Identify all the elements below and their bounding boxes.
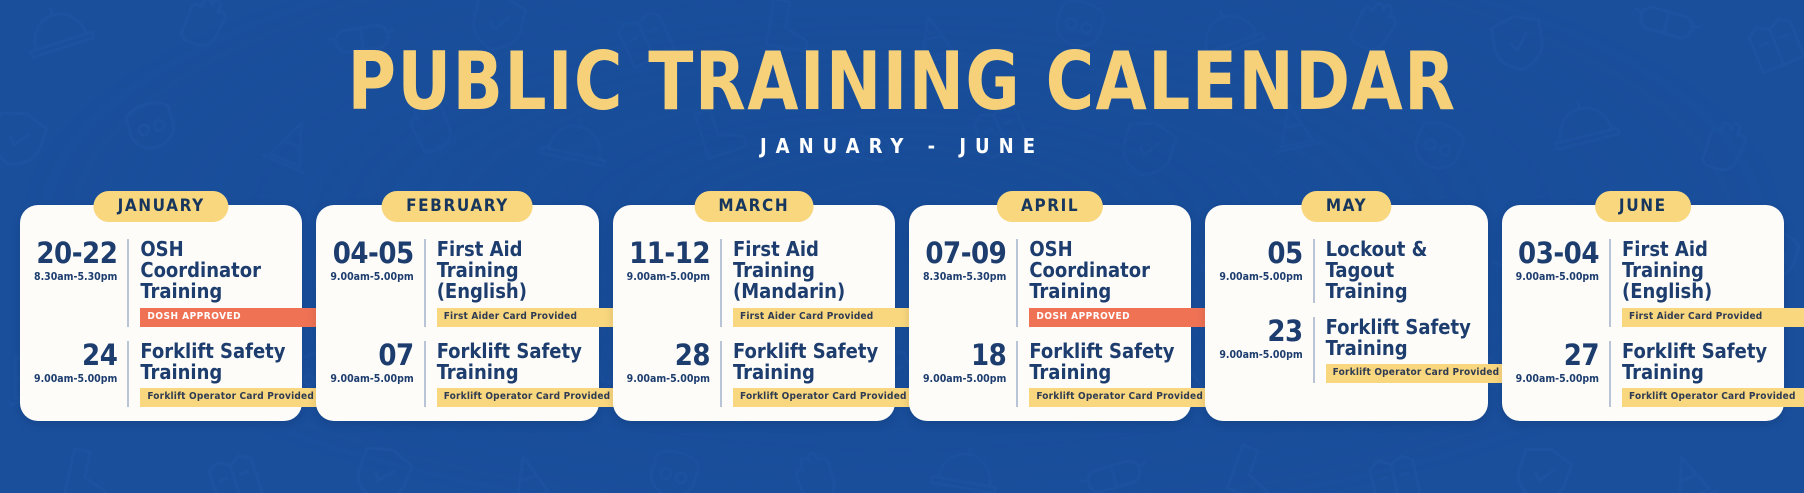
event-date-column: 04-05 9.00am-5.00pm bbox=[330, 239, 425, 327]
event-info-column: Forklift Safety Training Forklift Operat… bbox=[1611, 341, 1770, 407]
event-title: Lockout & Tagout Training bbox=[1326, 239, 1474, 303]
event-time: 9.00am-5.00pm bbox=[1219, 350, 1302, 362]
event-title: OSH Coordinator Training bbox=[140, 239, 288, 303]
event-title: First Aid Training (English) bbox=[437, 239, 585, 303]
month-card-april[interactable]: APRIL 07-09 8.30am-5.30pm OSH Coordinato… bbox=[909, 205, 1191, 421]
event-row[interactable]: 03-04 9.00am-5.00pm First Aid Training (… bbox=[1516, 239, 1770, 327]
month-pill-april: APRIL bbox=[997, 191, 1103, 222]
event-title: Forklift Safety Training bbox=[140, 341, 288, 383]
event-info-column: Forklift Safety Training Forklift Operat… bbox=[426, 341, 585, 407]
event-info-column: Lockout & Tagout Training bbox=[1315, 239, 1474, 303]
month-pill-february: FEBRUARY bbox=[382, 191, 533, 222]
event-title: First Aid Training (Mandarin) bbox=[733, 239, 881, 303]
event-row[interactable]: 11-12 9.00am-5.00pm First Aid Training (… bbox=[627, 239, 881, 327]
page-title: PUBLIC TRAINING CALENDAR bbox=[72, 44, 1732, 120]
event-dates: 07-09 bbox=[923, 239, 1006, 268]
page-subtitle: JANUARY - JUNE bbox=[0, 134, 1804, 158]
event-dates: 24 bbox=[34, 341, 117, 370]
event-badge-first-aider-card: First Aider Card Provided bbox=[437, 308, 637, 327]
event-dates: 28 bbox=[627, 341, 710, 370]
event-info-column: Forklift Safety Training Forklift Operat… bbox=[1018, 341, 1177, 407]
event-time: 8.30am-5.30pm bbox=[34, 272, 117, 284]
event-info-column: OSH Coordinator Training DOSH APPROVED bbox=[129, 239, 288, 327]
event-row[interactable]: 23 9.00am-5.00pm Forklift Safety Trainin… bbox=[1219, 317, 1473, 383]
page-header: PUBLIC TRAINING CALENDAR JANUARY - JUNE bbox=[0, 0, 1804, 158]
event-row[interactable]: 27 9.00am-5.00pm Forklift Safety Trainin… bbox=[1516, 341, 1770, 407]
event-row[interactable]: 18 9.00am-5.00pm Forklift Safety Trainin… bbox=[923, 341, 1177, 407]
event-date-column: 18 9.00am-5.00pm bbox=[923, 341, 1018, 407]
event-info-column: Forklift Safety Training Forklift Operat… bbox=[1315, 317, 1474, 383]
month-pill-june: JUNE bbox=[1595, 191, 1691, 222]
event-time: 9.00am-5.00pm bbox=[1516, 374, 1599, 386]
event-time: 9.00am-5.00pm bbox=[627, 374, 710, 386]
event-time: 9.00am-5.00pm bbox=[330, 272, 413, 284]
event-date-column: 24 9.00am-5.00pm bbox=[34, 341, 129, 407]
event-title: OSH Coordinator Training bbox=[1029, 239, 1177, 303]
event-row[interactable]: 20-22 8.30am-5.30pm OSH Coordinator Trai… bbox=[34, 239, 288, 327]
event-dates: 11-12 bbox=[627, 239, 710, 268]
event-date-column: 27 9.00am-5.00pm bbox=[1516, 341, 1611, 407]
month-cards-row: JANUARY 20-22 8.30am-5.30pm OSH Coordina… bbox=[0, 205, 1804, 421]
event-date-column: 28 9.00am-5.00pm bbox=[627, 341, 722, 407]
event-dates: 07 bbox=[330, 341, 413, 370]
event-dates: 20-22 bbox=[34, 239, 117, 268]
event-dates: 04-05 bbox=[330, 239, 413, 268]
event-date-column: 20-22 8.30am-5.30pm bbox=[34, 239, 129, 327]
event-row[interactable]: 04-05 9.00am-5.00pm First Aid Training (… bbox=[330, 239, 584, 327]
event-date-column: 07-09 8.30am-5.30pm bbox=[923, 239, 1018, 327]
event-time: 8.30am-5.30pm bbox=[923, 272, 1006, 284]
event-title: First Aid Training (English) bbox=[1622, 239, 1770, 303]
event-dates: 27 bbox=[1516, 341, 1599, 370]
event-time: 9.00am-5.00pm bbox=[1516, 272, 1599, 284]
month-card-march[interactable]: MARCH 11-12 9.00am-5.00pm First Aid Trai… bbox=[613, 205, 895, 421]
event-time: 9.00am-5.00pm bbox=[923, 374, 1006, 386]
event-info-column: Forklift Safety Training Forklift Operat… bbox=[129, 341, 288, 407]
event-info-column: Forklift Safety Training Forklift Operat… bbox=[722, 341, 881, 407]
event-title: Forklift Safety Training bbox=[1622, 341, 1770, 383]
month-pill-january: JANUARY bbox=[94, 191, 229, 222]
event-row[interactable]: 28 9.00am-5.00pm Forklift Safety Trainin… bbox=[627, 341, 881, 407]
event-date-column: 11-12 9.00am-5.00pm bbox=[627, 239, 722, 327]
event-time: 9.00am-5.00pm bbox=[1219, 272, 1302, 284]
month-card-may[interactable]: MAY 05 9.00am-5.00pm Lockout & Tagout Tr… bbox=[1205, 205, 1487, 421]
event-row[interactable]: 05 9.00am-5.00pm Lockout & Tagout Traini… bbox=[1219, 239, 1473, 303]
event-badge-first-aider-card: First Aider Card Provided bbox=[733, 308, 933, 327]
event-title: Forklift Safety Training bbox=[1326, 317, 1474, 359]
month-card-january[interactable]: JANUARY 20-22 8.30am-5.30pm OSH Coordina… bbox=[20, 205, 302, 421]
event-date-column: 07 9.00am-5.00pm bbox=[330, 341, 425, 407]
event-info-column: First Aid Training (Mandarin) First Aide… bbox=[722, 239, 881, 327]
event-badge-forklift-card: Forklift Operator Card Provided bbox=[1622, 388, 1804, 407]
month-card-june[interactable]: JUNE 03-04 9.00am-5.00pm First Aid Train… bbox=[1502, 205, 1784, 421]
event-row[interactable]: 24 9.00am-5.00pm Forklift Safety Trainin… bbox=[34, 341, 288, 407]
event-dates: 23 bbox=[1219, 317, 1302, 346]
event-info-column: First Aid Training (English) First Aider… bbox=[1611, 239, 1770, 327]
event-info-column: First Aid Training (English) First Aider… bbox=[426, 239, 585, 327]
event-title: Forklift Safety Training bbox=[733, 341, 881, 383]
month-pill-march: MARCH bbox=[694, 191, 813, 222]
event-time: 9.00am-5.00pm bbox=[330, 374, 413, 386]
event-dates: 05 bbox=[1219, 239, 1302, 268]
event-badge-first-aider-card: First Aider Card Provided bbox=[1622, 308, 1804, 327]
event-time: 9.00am-5.00pm bbox=[627, 272, 710, 284]
event-date-column: 03-04 9.00am-5.00pm bbox=[1516, 239, 1611, 327]
event-date-column: 05 9.00am-5.00pm bbox=[1219, 239, 1314, 303]
event-row[interactable]: 07-09 8.30am-5.30pm OSH Coordinator Trai… bbox=[923, 239, 1177, 327]
event-row[interactable]: 07 9.00am-5.00pm Forklift Safety Trainin… bbox=[330, 341, 584, 407]
event-dates: 03-04 bbox=[1516, 239, 1599, 268]
event-dates: 18 bbox=[923, 341, 1006, 370]
event-title: Forklift Safety Training bbox=[1029, 341, 1177, 383]
month-pill-may: MAY bbox=[1302, 191, 1391, 222]
month-card-february[interactable]: FEBRUARY 04-05 9.00am-5.00pm First Aid T… bbox=[316, 205, 598, 421]
event-title: Forklift Safety Training bbox=[437, 341, 585, 383]
event-info-column: OSH Coordinator Training DOSH APPROVED bbox=[1018, 239, 1177, 327]
event-date-column: 23 9.00am-5.00pm bbox=[1219, 317, 1314, 383]
event-time: 9.00am-5.00pm bbox=[34, 374, 117, 386]
